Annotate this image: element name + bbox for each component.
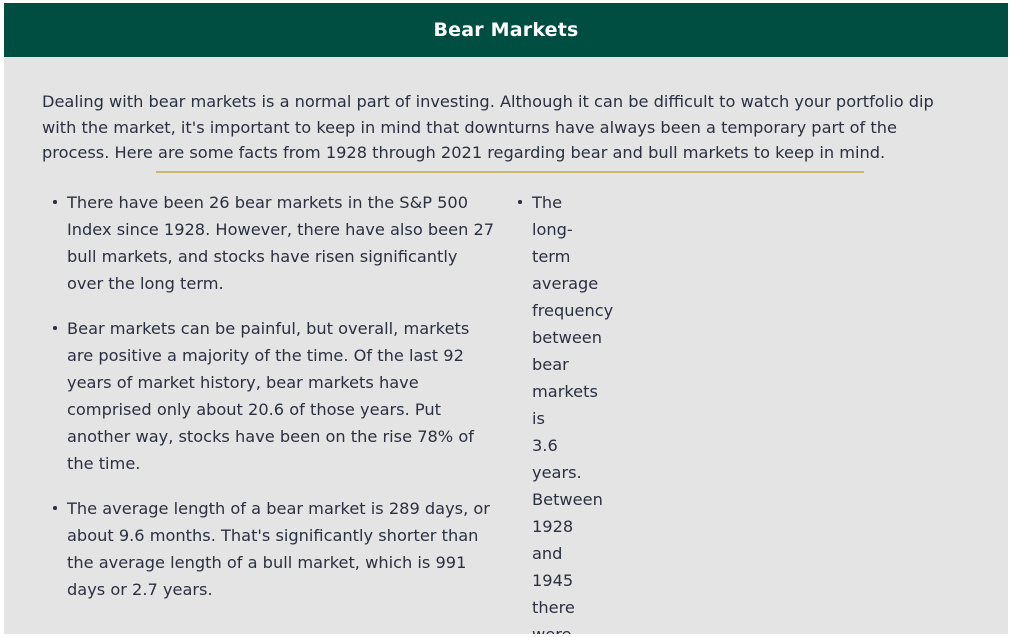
intro-paragraph: Dealing with bear markets is a normal pa… xyxy=(42,89,957,166)
list-item-text: The average length of a bear market is 2… xyxy=(67,499,490,599)
left-column: There have been 26 bear markets in the S… xyxy=(4,189,504,603)
list-item-text: The long-term average frequency between … xyxy=(532,193,613,634)
list-item-text: There have been 26 bear markets in the S… xyxy=(67,193,494,293)
bullet-columns: There have been 26 bear markets in the S… xyxy=(4,189,1008,634)
list-item: There have been 26 bear markets in the S… xyxy=(53,189,498,297)
card-header: Bear Markets xyxy=(4,3,1008,57)
list-item-text: Bear markets can be painful, but overall… xyxy=(67,319,474,473)
list-item: The long-term average frequency between … xyxy=(518,189,532,634)
bullet-dot-icon xyxy=(53,326,57,330)
page-title: Bear Markets xyxy=(433,19,578,41)
left-bullet-list: There have been 26 bear markets in the S… xyxy=(53,189,498,603)
bullet-dot-icon xyxy=(53,506,57,510)
bullet-dot-icon xyxy=(518,200,522,204)
list-item: Bear markets can be painful, but overall… xyxy=(53,315,498,477)
bear-markets-card: Bear Markets Dealing with bear markets i… xyxy=(4,3,1008,634)
list-item: The average length of a bear market is 2… xyxy=(53,495,498,603)
section-divider xyxy=(156,171,864,173)
bullet-dot-icon xyxy=(53,200,57,204)
